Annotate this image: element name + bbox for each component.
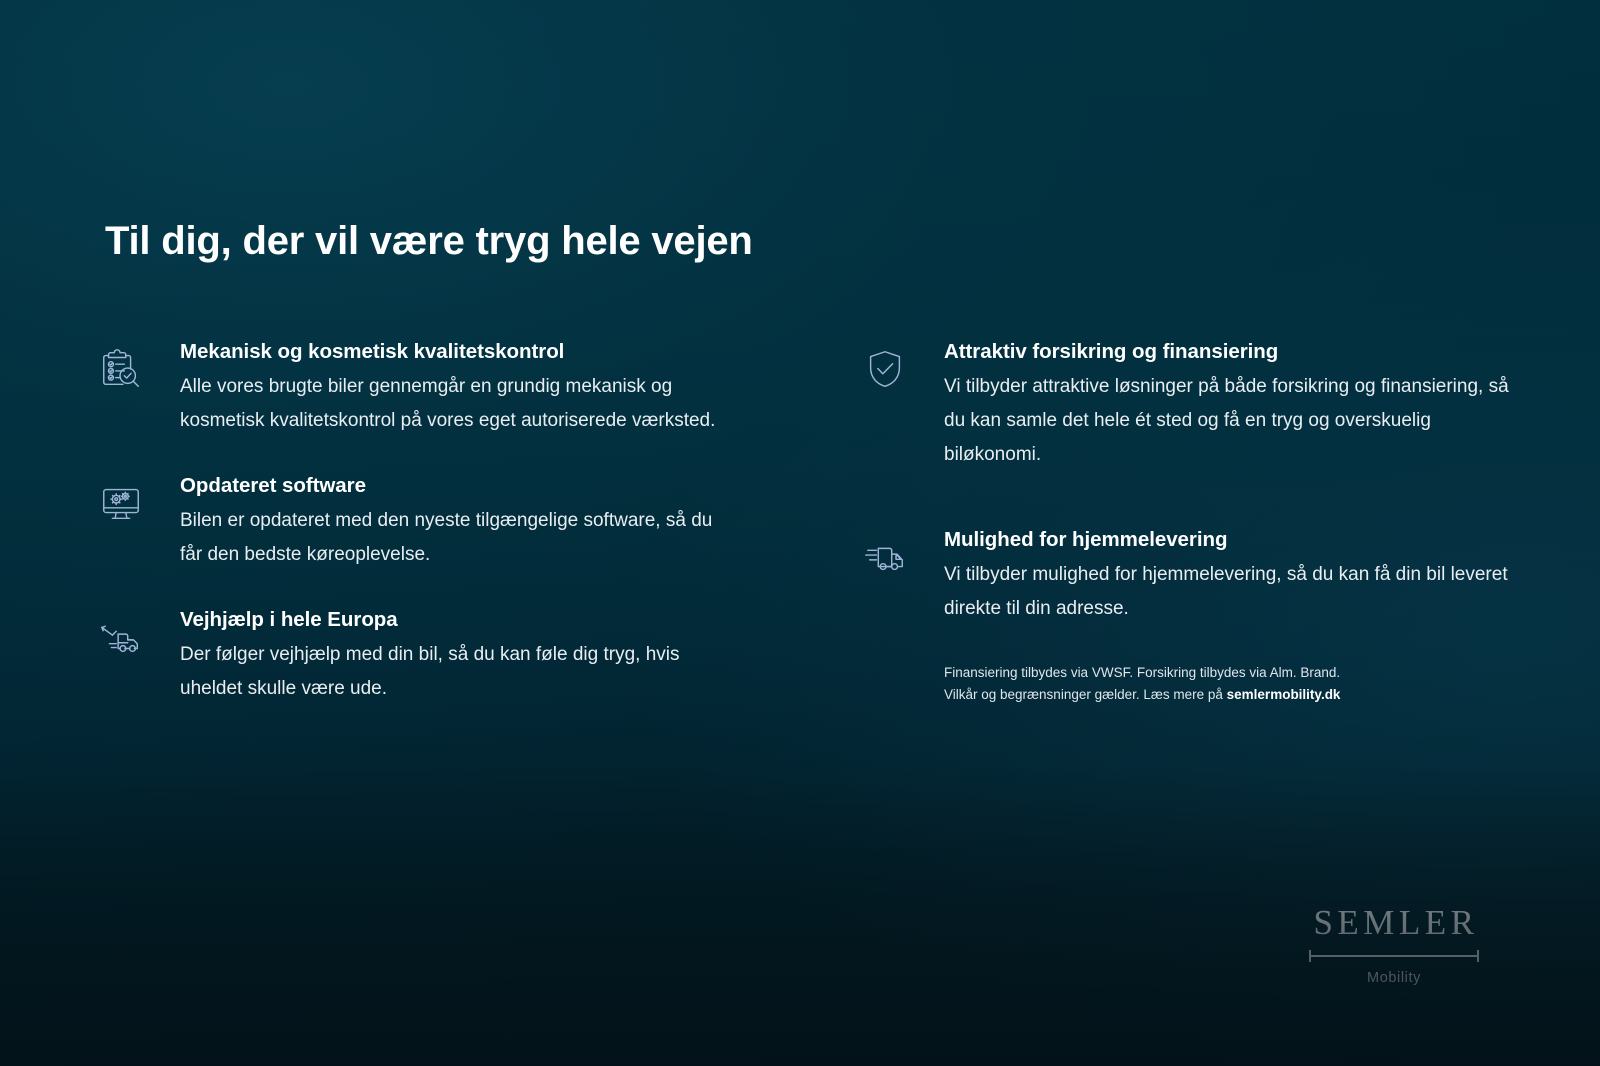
feature-home-delivery: Mulighed for hjemmelevering Vi tilbyder … xyxy=(862,528,1518,626)
legal-line-2-prefix: Vilkår og begrænsninger gælder. Læs mere… xyxy=(944,687,1227,702)
legal-disclaimer: Finansiering tilbydes via VWSF. Forsikri… xyxy=(944,662,1414,706)
feature-updated-software: Opdateret software Bilen er opdateret me… xyxy=(98,474,754,572)
promo-banner: Til dig, der vil være tryg hele vejen xyxy=(0,0,1600,1066)
legal-line-1: Finansiering tilbydes via VWSF. Forsikri… xyxy=(944,665,1340,680)
feature-text: Der følger vejhjælp med din bil, så du k… xyxy=(180,638,720,706)
logo-divider-cap-right xyxy=(1477,950,1479,962)
feature-title: Opdateret software xyxy=(180,474,754,498)
shield-check-icon xyxy=(862,340,944,392)
semler-mobility-logo: SEMLER Mobility xyxy=(1306,905,1482,986)
logo-divider-cap-left xyxy=(1309,950,1311,962)
features-column-right: Attraktiv forsikring og finansiering Vi … xyxy=(862,340,1518,742)
feature-text: Vi tilbyder attraktive løsninger på både… xyxy=(944,370,1518,472)
feature-text: Bilen er opdateret med den nyeste tilgæn… xyxy=(180,504,720,572)
legal-link-semlermobility[interactable]: semlermobility.dk xyxy=(1227,687,1341,702)
feature-title: Mulighed for hjemmelevering xyxy=(944,528,1518,552)
feature-insurance-financing: Attraktiv forsikring og finansiering Vi … xyxy=(862,340,1518,472)
page-title: Til dig, der vil være tryg hele vejen xyxy=(105,219,753,264)
feature-title: Mekanisk og kosmetisk kvalitetskontrol xyxy=(180,340,754,364)
feature-roadside-assistance: Vejhjælp i hele Europa Der følger vejhjæ… xyxy=(98,608,754,706)
monitor-gears-icon xyxy=(98,474,180,526)
feature-title: Attraktiv forsikring og finansiering xyxy=(944,340,1518,364)
feature-text: Vi tilbyder mulighed for hjemmelevering,… xyxy=(944,558,1518,626)
logo-divider xyxy=(1306,950,1482,962)
delivery-truck-icon xyxy=(862,528,944,580)
logo-subtitle: Mobility xyxy=(1306,970,1482,986)
tow-truck-icon xyxy=(98,608,180,660)
clipboard-check-magnifier-icon xyxy=(98,340,180,392)
features-columns: Mekanisk og kosmetisk kvalitetskontrol A… xyxy=(98,340,1518,742)
feature-quality-control: Mekanisk og kosmetisk kvalitetskontrol A… xyxy=(98,340,754,438)
logo-wordmark: SEMLER xyxy=(1306,905,1482,940)
feature-text: Alle vores brugte biler gennemgår en gru… xyxy=(180,370,720,438)
features-column-left: Mekanisk og kosmetisk kvalitetskontrol A… xyxy=(98,340,754,742)
feature-title: Vejhjælp i hele Europa xyxy=(180,608,754,632)
